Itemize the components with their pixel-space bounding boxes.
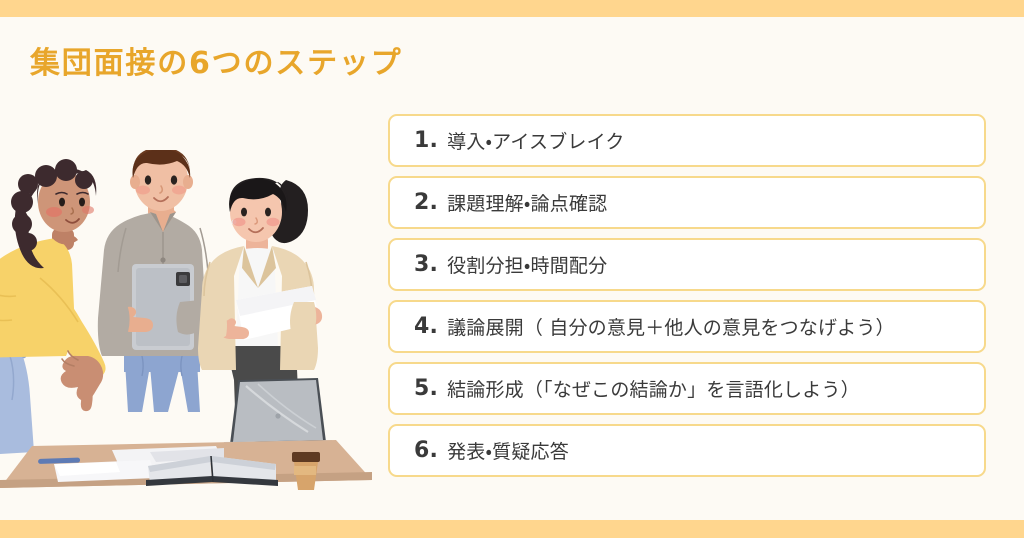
step-card-3[interactable]: 3. 役割分担・時間配分 [388,238,986,291]
step-number: 2. [414,190,438,215]
step-label: 議論展開（ 自分の意見＋他人の意見をつなげよう） [447,313,895,340]
step-label: 役割分担・時間配分 [447,251,607,278]
step-number: 6. [414,438,438,463]
person-left-pointing [0,159,106,456]
step-card-6[interactable]: 6. 発表・質疑応答 [388,424,986,477]
step-label: 発表・質疑応答 [447,437,569,464]
step-number: 4. [414,314,438,339]
step-card-4[interactable]: 4. 議論展開（ 自分の意見＋他人の意見をつなげよう） [388,300,986,353]
illustration-three-people-discussion [0,150,372,490]
bottom-accent-band [0,520,1024,538]
page-title: 集団面接の6つのステップ [30,46,402,82]
step-label: 導入・アイスブレイク [447,127,624,154]
slide-canvas: 集団面接の6つのステップ [0,0,1024,538]
illustration-svg [0,150,372,490]
step-card-5[interactable]: 5. 結論形成（「なぜこの結論か」を言語化しよう） [388,362,986,415]
step-number: 1. [414,128,438,153]
person-center-with-tablet [98,150,208,412]
steps-list: 1. 導入・アイスブレイク 2. 課題理解・論点確認 3. 役割分担・時間配分 … [388,114,986,477]
step-number: 5. [414,376,438,401]
step-card-2[interactable]: 2. 課題理解・論点確認 [388,176,986,229]
step-label: 課題理解・論点確認 [447,189,607,216]
top-accent-band [0,0,1024,17]
coffee-cup [292,452,320,490]
step-number: 3. [414,252,438,277]
step-label: 結論形成（「なぜこの結論か」を言語化しよう） [447,375,860,402]
step-card-1[interactable]: 1. 導入・アイスブレイク [388,114,986,167]
